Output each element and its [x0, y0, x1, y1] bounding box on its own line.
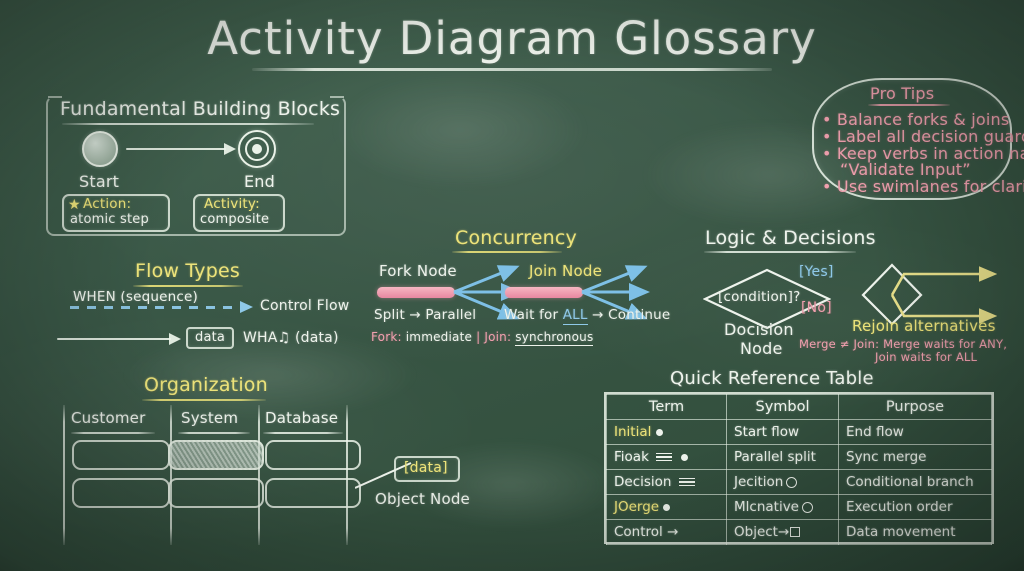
- dot-icon: [656, 429, 663, 436]
- table-row: JΟerge MlcnativeExecution order: [607, 495, 992, 520]
- symbol-label: Jecition: [734, 474, 783, 490]
- start-to-end-arrow-line: [126, 148, 226, 150]
- yes-guard-label: [Yes]: [799, 264, 834, 280]
- note-fork-value: immediate: [406, 330, 472, 344]
- symbol-label: Start flow: [734, 424, 799, 440]
- decision-node-caption-line1: Docision: [724, 320, 794, 339]
- rejoin-alternatives-label: Rejoin alternatives: [852, 317, 996, 335]
- swimlane-label-underline: [71, 432, 155, 434]
- circle-icon: [786, 477, 797, 488]
- cell-symbol: Start flow: [727, 420, 839, 445]
- column-header-symbol: Symbol: [727, 395, 839, 420]
- fork-bar: [377, 287, 455, 298]
- flow-types-underline: [133, 285, 243, 287]
- object-flow-arrow-head: [169, 333, 181, 345]
- pro-tips-underline: [868, 104, 950, 106]
- purpose-label: Data movement: [846, 524, 956, 540]
- purpose-label: Execution order: [846, 499, 953, 515]
- swimlane-divider: [63, 405, 65, 545]
- circle-icon: [802, 502, 813, 513]
- swimlane-activity-box-highlighted: [168, 440, 264, 470]
- cell-purpose: Execution order: [839, 495, 992, 520]
- purpose-label: Sync merge: [846, 449, 926, 465]
- join-caption-all: ALL: [563, 307, 588, 325]
- concurrency-underline: [452, 251, 562, 253]
- merge-note-line1: Merge ≠ Join: Merge waits for ANY,: [799, 337, 1007, 351]
- symbol-label: Parallel split: [734, 449, 816, 465]
- swimlane-label-system: System: [181, 409, 238, 427]
- cell-term: Control →: [607, 520, 727, 545]
- swimlane-label-customer: Customer: [71, 409, 145, 427]
- quick-reference-heading: Quick Reference Table: [670, 368, 874, 389]
- no-guard-label: [No]: [801, 300, 832, 316]
- table-row: Control →Object→Data movement: [607, 520, 992, 545]
- swimlane-activity-box: [265, 478, 361, 508]
- term-label: Initial: [614, 424, 651, 440]
- activity-title: Activity:: [204, 196, 260, 212]
- join-caption-suffix: → Continue: [588, 307, 671, 323]
- page-title: Activity Diagram Glossary: [0, 12, 1024, 65]
- fork-caption: Split → Parallel: [374, 307, 476, 323]
- term-label: JΟerge: [614, 499, 659, 515]
- join-caption: Wait for ALL → Continue: [504, 307, 670, 323]
- term-label: Decision: [614, 474, 671, 490]
- object-node-caption: Object Node: [375, 490, 470, 508]
- cell-term: Fioak: [607, 445, 727, 470]
- cell-term: JΟerge: [607, 495, 727, 520]
- start-node-label: Start: [79, 172, 119, 191]
- swimlane-activity-box: [72, 440, 170, 470]
- note-separator: |: [476, 330, 480, 344]
- join-caption-prefix: Wait for: [504, 307, 563, 323]
- arrow-right-icon: →: [667, 524, 678, 540]
- control-flow-dashed-line: [70, 306, 240, 309]
- cell-symbol: Jecition: [727, 470, 839, 495]
- cell-symbol: Mlcnative: [727, 495, 839, 520]
- cell-purpose: End flow: [839, 420, 992, 445]
- bars-icon: [656, 451, 672, 464]
- flow-types-heading: Flow Types: [135, 260, 240, 282]
- dot-icon: [663, 504, 670, 511]
- logic-heading: Logic & Decisions: [705, 227, 876, 249]
- swimlane-activity-box: [72, 478, 170, 508]
- swimlane-label-underline: [178, 432, 250, 434]
- swimlane-activity-box: [265, 440, 361, 470]
- object-node-value: [data]: [404, 460, 448, 476]
- fork-node-label: Fork Node: [379, 262, 457, 280]
- cell-symbol: Parallel split: [727, 445, 839, 470]
- start-to-end-arrow-head: [224, 143, 236, 155]
- pro-tip-item: • Use swimlanes for clarity ✓: [822, 177, 1024, 196]
- swimlane-activity-box: [168, 478, 264, 508]
- decision-node-caption-line2: Node: [740, 339, 783, 358]
- cell-term: Decision: [607, 470, 727, 495]
- swimlane-divider: [258, 405, 260, 545]
- symbol-label: Mlcnative: [734, 499, 799, 515]
- column-header-purpose: Purpose: [839, 395, 992, 420]
- concurrency-note: Fork: immediate | Join: synchronous: [371, 330, 593, 344]
- note-join-key: Join:: [484, 330, 511, 344]
- data-box-label: data: [195, 330, 225, 345]
- star-icon: ★: [68, 198, 81, 212]
- object-flow-line: [57, 338, 171, 340]
- symbol-label: Object→: [734, 524, 789, 540]
- swimlane-divider: [170, 405, 172, 545]
- action-title: Action:: [83, 196, 131, 212]
- control-flow-arrow-head: [240, 301, 253, 313]
- note-join-value: synchronous: [515, 330, 593, 346]
- purpose-label: Conditional branch: [846, 474, 974, 490]
- table-row: Decision JecitionConditional branch: [607, 470, 992, 495]
- organization-heading: Organization: [144, 374, 268, 396]
- column-header-term: Term: [607, 395, 727, 420]
- swimlane-divider: [346, 405, 348, 545]
- table-row: Fioak Parallel splitSync merge: [607, 445, 992, 470]
- cell-symbol: Object→: [727, 520, 839, 545]
- when-sequence-label: WHEN (sequence): [73, 289, 198, 305]
- end-node-label: End: [244, 172, 275, 191]
- organization-underline: [142, 399, 266, 401]
- table-header-row: Term Symbol Purpose: [607, 395, 992, 420]
- control-flow-label: Control Flow: [260, 298, 349, 314]
- cell-purpose: Conditional branch: [839, 470, 992, 495]
- object-flow-label: WHA♫ (data): [243, 330, 339, 346]
- cell-purpose: Data movement: [839, 520, 992, 545]
- join-bar: [505, 287, 583, 298]
- condition-label: [condition]?: [718, 289, 801, 305]
- merge-note-line2: Join waits for ALL: [875, 350, 977, 364]
- logic-underline: [704, 251, 856, 253]
- bars-icon: [679, 476, 695, 489]
- quick-reference-table: Term Symbol Purpose Initial Start flowEn…: [604, 392, 994, 544]
- term-label: Control: [614, 524, 663, 540]
- note-fork-key: Fork:: [371, 330, 402, 344]
- concurrency-heading: Concurrency: [455, 227, 577, 249]
- swimlane-label-underline: [263, 432, 343, 434]
- action-subtitle: atomic step: [70, 212, 149, 227]
- fundamental-heading: Fundamental Building Blocks: [60, 98, 340, 120]
- start-node-icon: [82, 131, 118, 167]
- swimlane-label-database: Database: [265, 409, 338, 427]
- end-node-icon: [238, 130, 276, 168]
- pro-tips-heading: Pro Tips: [870, 84, 934, 103]
- purpose-label: End flow: [846, 424, 904, 440]
- dot-icon: [681, 454, 688, 461]
- fundamental-heading-underline: [62, 123, 314, 125]
- cell-term: Initial: [607, 420, 727, 445]
- table-row: Initial Start flowEnd flow: [607, 420, 992, 445]
- square-icon: [790, 527, 800, 537]
- title-underline: [252, 68, 772, 71]
- activity-subtitle: composite: [200, 212, 269, 227]
- term-label: Fioak: [614, 449, 649, 465]
- cell-purpose: Sync merge: [839, 445, 992, 470]
